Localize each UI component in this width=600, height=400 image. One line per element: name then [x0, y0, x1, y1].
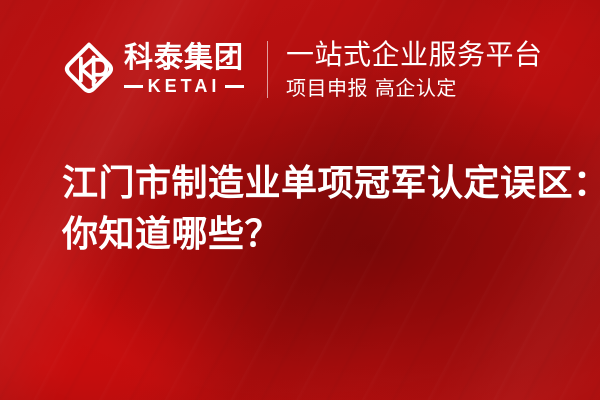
banner-header: 科泰集团 KETAI 一站式企业服务平台 项目申报 高企认定: [60, 40, 543, 98]
tagline-secondary: 项目申报 高企认定: [286, 78, 543, 98]
brand-logo[interactable]: 科泰集团 KETAI: [60, 40, 244, 98]
wordmark-rule-right: [225, 85, 244, 88]
brand-name-en: KETAI: [148, 77, 221, 95]
brand-name-en-row: KETAI: [124, 77, 244, 95]
headline: 江门市制造业单项冠军认定误区： 你知道哪些？: [62, 158, 562, 260]
ketai-kp-diamond-logo-icon: [60, 40, 118, 98]
wordmark-rule-left: [124, 85, 143, 88]
promo-banner: 科泰集团 KETAI 一站式企业服务平台 项目申报 高企认定 江门市制造业单项冠…: [0, 0, 600, 400]
tagline-block: 一站式企业服务平台 项目申报 高企认定: [286, 41, 543, 98]
brand-name-cn: 科泰集团: [124, 43, 244, 72]
tagline-primary: 一站式企业服务平台: [286, 41, 543, 69]
brand-logo-wordmark: 科泰集团 KETAI: [124, 43, 244, 95]
header-vertical-divider: [267, 41, 268, 98]
headline-line-2: 你知道哪些？: [62, 209, 562, 260]
headline-line-1: 江门市制造业单项冠军认定误区：: [62, 158, 562, 209]
